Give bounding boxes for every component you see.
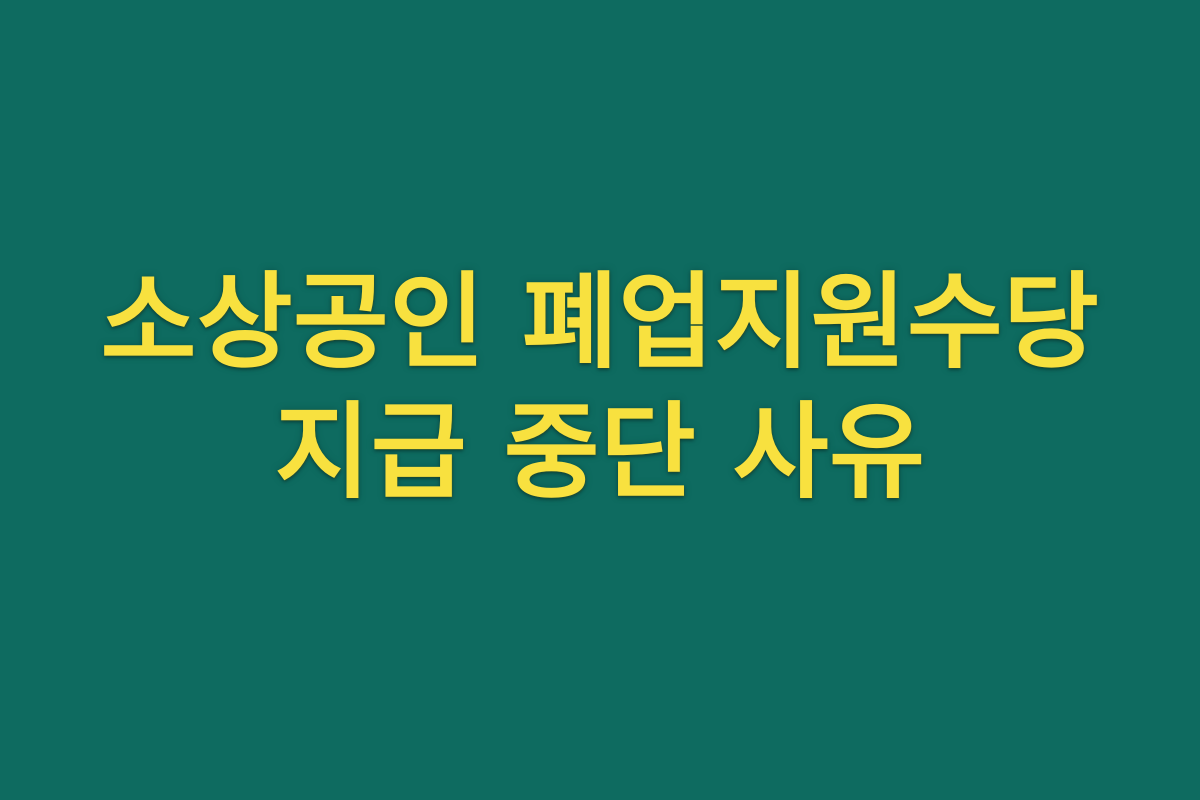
headline-line-2: 지급 중단 사유	[0, 387, 1200, 517]
headline-line-1: 소상공인 폐업지원수당	[0, 257, 1200, 387]
title-card-banner: 소상공인 폐업지원수당 지급 중단 사유	[0, 0, 1200, 800]
headline-block: 소상공인 폐업지원수당 지급 중단 사유	[0, 257, 1200, 517]
